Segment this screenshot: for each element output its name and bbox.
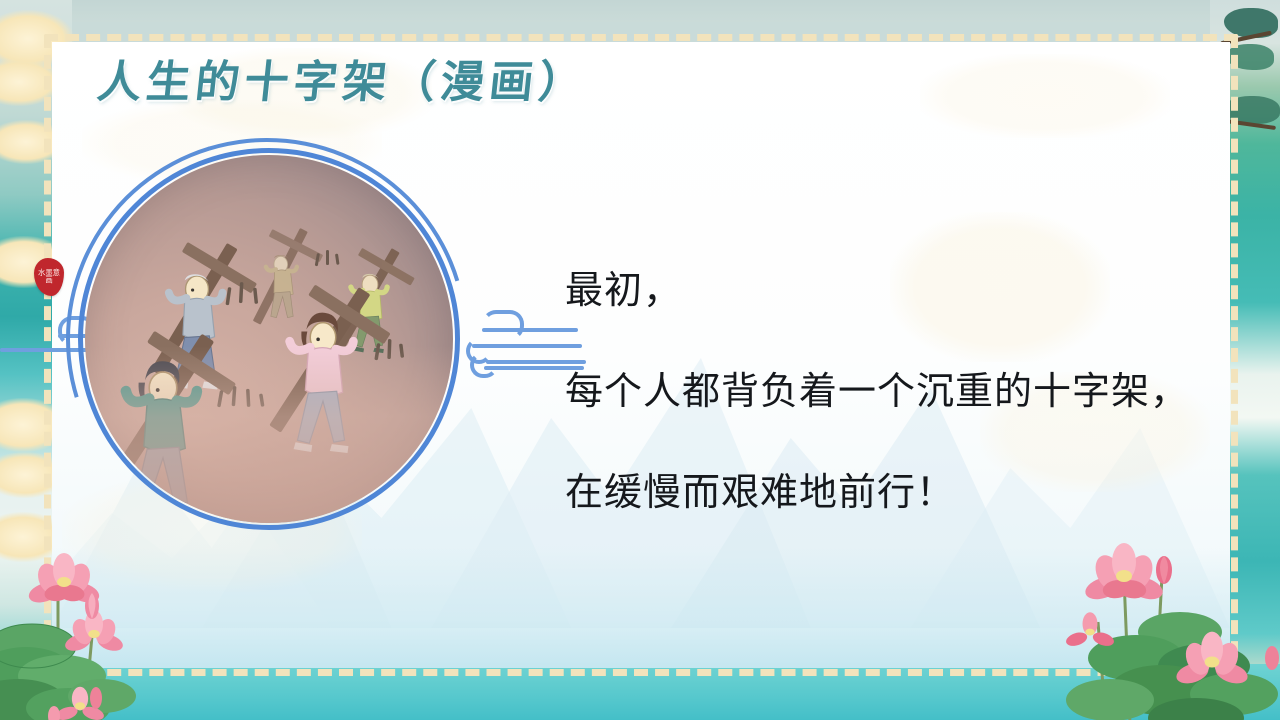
pine-tree-motif: [1224, 8, 1278, 38]
paper-water-wash: [52, 548, 1230, 668]
lotus-flower: [54, 687, 105, 720]
body-text-block: 最初， 每个人都背负着一个沉重的十字架， 在缓慢而艰难地前行！: [565, 240, 1255, 543]
illustration-circle: [78, 148, 460, 530]
body-line-1: 最初，: [565, 240, 1255, 341]
seal-stamp: 水墨意画: [34, 258, 64, 296]
body-line-2: 每个人都背负着一个沉重的十字架，: [565, 341, 1255, 442]
pine-tree-motif: [1224, 96, 1280, 124]
slide-canvas: 人生的十字架（漫画） 水墨意画: [0, 0, 1280, 720]
seal-stamp-text: 水墨意画: [38, 270, 60, 285]
paper-cloud-motif: [920, 54, 1170, 138]
pine-tree-motif: [1226, 44, 1274, 70]
page-title: 人生的十字架（漫画）: [95, 46, 592, 110]
bottom-decor-band: [0, 664, 1280, 720]
body-line-3: 在缓慢而艰难地前行！: [565, 442, 1255, 543]
circle-ring-border: [78, 148, 460, 530]
top-decor-band: [0, 0, 1280, 22]
